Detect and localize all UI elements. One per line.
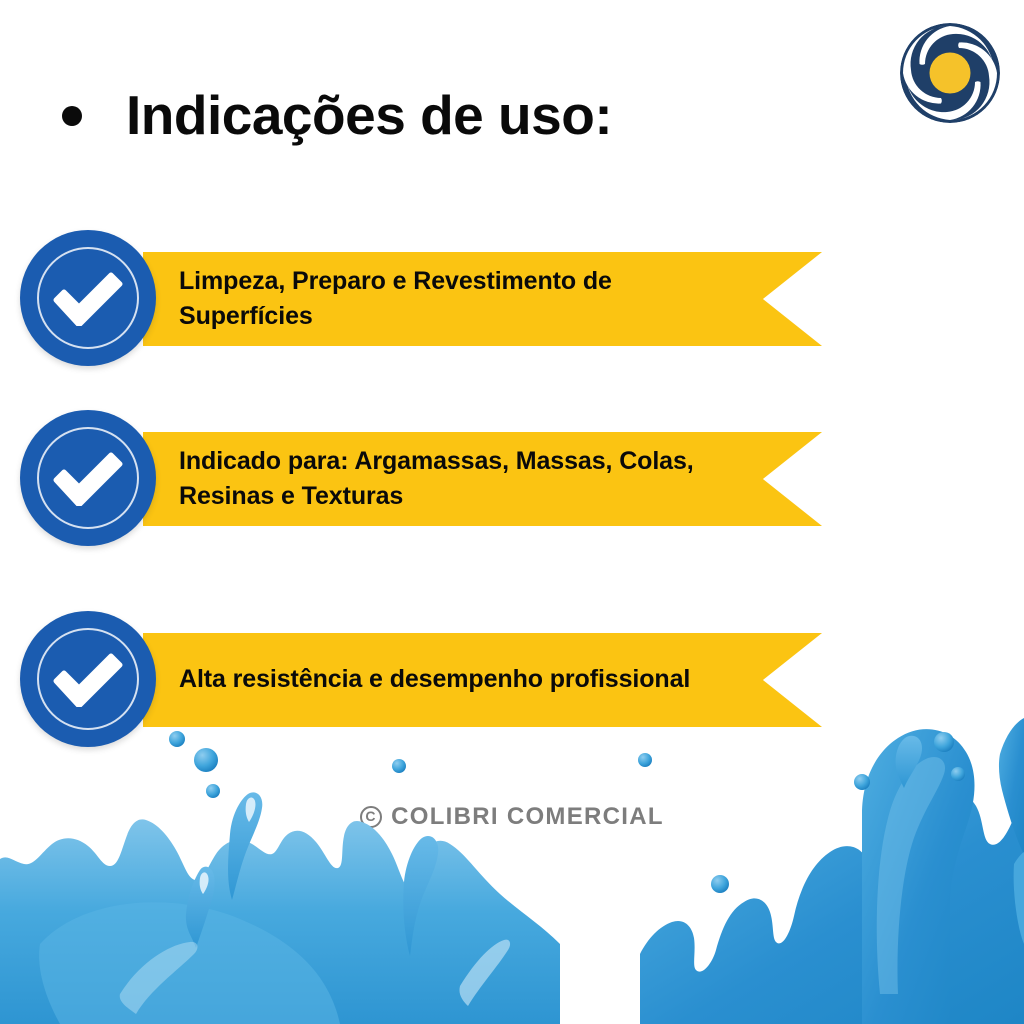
check-circle-icon bbox=[20, 410, 156, 546]
checkmark-glyph bbox=[51, 651, 125, 707]
checkmark-glyph bbox=[51, 270, 125, 326]
slide-canvas: Indicações de uso: Limpeza, Preparo e Re… bbox=[0, 0, 1024, 1024]
feature-ribbon: Indicado para: Argamassas, Massas, Colas… bbox=[143, 432, 822, 526]
feature-label: Limpeza, Preparo e Revestimento de Super… bbox=[179, 264, 722, 335]
copyright-icon: C bbox=[360, 806, 382, 828]
feature-item: Indicado para: Argamassas, Massas, Colas… bbox=[0, 410, 1024, 560]
check-circle-icon bbox=[20, 611, 156, 747]
feature-label: Alta resistência e desempenho profission… bbox=[179, 662, 690, 698]
bullet-dot-icon bbox=[62, 106, 82, 126]
colibri-spiral-logo-icon bbox=[895, 18, 1005, 128]
watermark: C COLIBRI COMERCIAL bbox=[0, 803, 1024, 831]
feature-ribbon: Limpeza, Preparo e Revestimento de Super… bbox=[143, 252, 822, 346]
feature-ribbon: Alta resistência e desempenho profission… bbox=[143, 633, 822, 727]
watermark-text: COLIBRI COMERCIAL bbox=[391, 803, 664, 831]
feature-item: Alta resistência e desempenho profission… bbox=[0, 611, 1024, 761]
feature-item: Limpeza, Preparo e Revestimento de Super… bbox=[0, 230, 1024, 380]
checkmark-glyph bbox=[51, 450, 125, 506]
page-title: Indicações de uso: bbox=[62, 88, 612, 143]
feature-label: Indicado para: Argamassas, Massas, Colas… bbox=[179, 444, 722, 515]
check-circle-icon bbox=[20, 230, 156, 366]
page-title-text: Indicações de uso: bbox=[126, 88, 612, 143]
